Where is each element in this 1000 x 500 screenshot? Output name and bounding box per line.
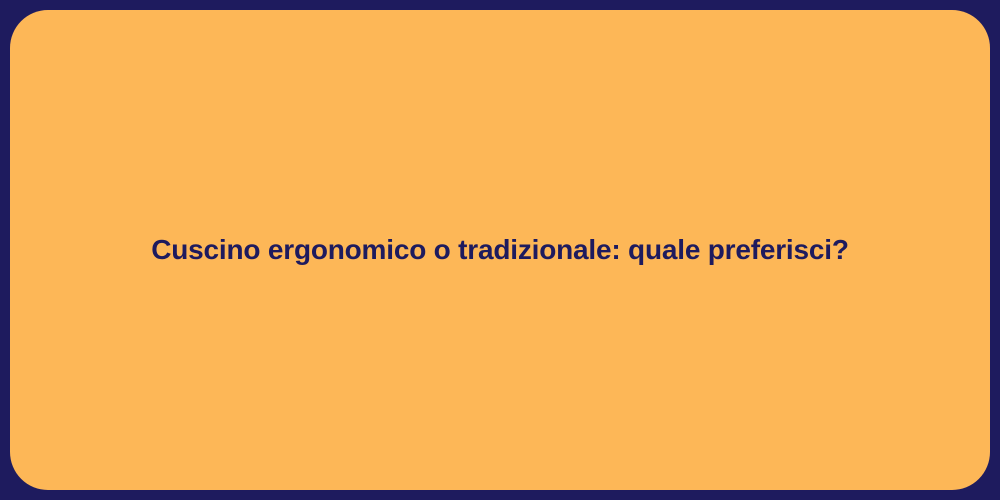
content-card: Cuscino ergonomico o tradizionale: quale…	[10, 10, 990, 490]
page-frame: Cuscino ergonomico o tradizionale: quale…	[0, 0, 1000, 500]
card-heading: Cuscino ergonomico o tradizionale: quale…	[151, 231, 849, 269]
